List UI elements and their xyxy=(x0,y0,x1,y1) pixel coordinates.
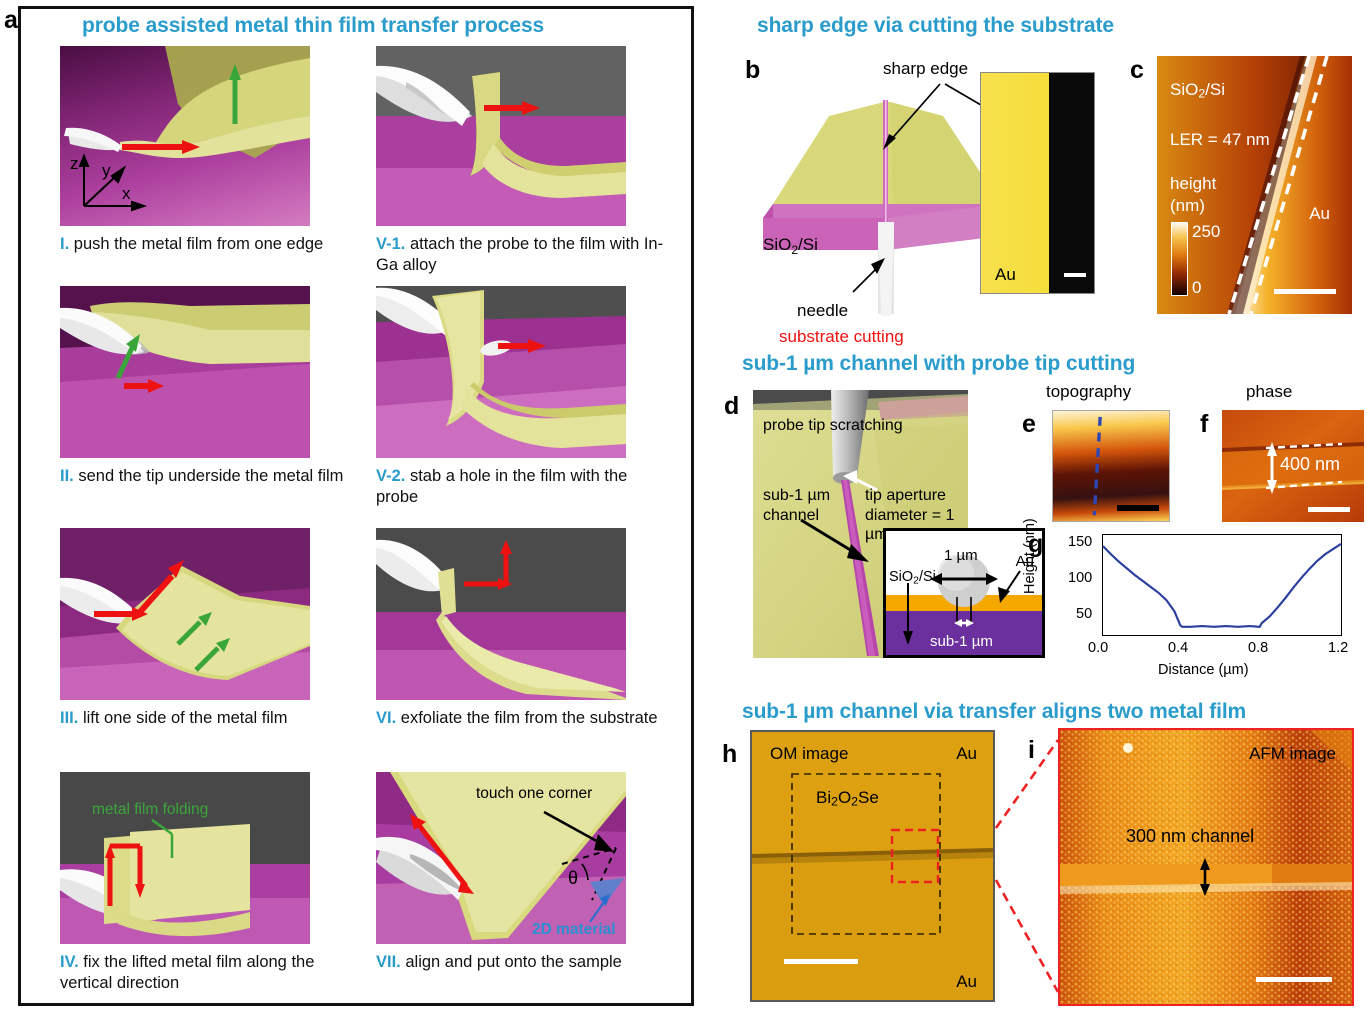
step-image-VI xyxy=(376,528,626,700)
heading-sub1um-probe: sub-1 µm channel with probe tip cutting xyxy=(742,352,1135,376)
panel-letter-e: e xyxy=(1022,412,1036,437)
label-h-material: Bi2O2Se xyxy=(816,788,879,809)
label-needle: needle xyxy=(797,301,848,320)
panel-h-om-image: OM image Au Bi2O2Se Au xyxy=(750,730,995,1002)
step-image-III xyxy=(60,528,310,700)
step-caption-III: III. lift one side of the metal film xyxy=(60,708,350,729)
label-inset-sub1um: sub-1 µm xyxy=(930,633,993,650)
annotation-touch-one-corner: touch one corner xyxy=(476,785,592,802)
step-image-II xyxy=(60,286,310,458)
step-caption-V2: V-2. stab a hole in the film with the pr… xyxy=(376,466,666,508)
label-c-au: Au xyxy=(1309,204,1330,224)
step-caption-IV: IV. fix the lifted metal film along the … xyxy=(60,952,350,994)
chart-y-axis-label: Height (nm) xyxy=(1044,536,1058,648)
step-text-III: lift one side of the metal film xyxy=(83,709,288,727)
annotation-2d-material: 2D material xyxy=(532,921,616,938)
panel-c-afm-image: SiO2/Si LER = 47 nm height (nm) 250 0 Au xyxy=(1157,56,1352,314)
step-image-IV: metal film folding xyxy=(60,772,310,944)
panel-letter-f: f xyxy=(1200,412,1208,437)
heading-process: probe assisted metal thin film transfer … xyxy=(82,14,544,38)
step-text-V2: stab a hole in the film with the probe xyxy=(376,467,627,506)
panel-letter-c: c xyxy=(1130,58,1144,83)
panel-i-afm-image: AFM image 300 nm channel xyxy=(1058,728,1354,1006)
panel-d-inset: SiO2/Si 1 µm Au sub-1 µm xyxy=(883,528,1045,658)
label-inset-1um: 1 µm xyxy=(944,547,978,564)
colorbar-max-label: 250 xyxy=(1192,222,1220,242)
scalebar-panel-i xyxy=(1256,977,1332,982)
title-topography: topography xyxy=(1046,382,1131,402)
step-text-IV: fix the lifted metal film along the vert… xyxy=(60,953,314,992)
label-b-substrate: SiO2/Si xyxy=(763,235,818,257)
scalebar-panel-c xyxy=(1274,289,1336,294)
svg-text:y: y xyxy=(102,161,111,180)
step-text-V1: attach the probe to the film with In-Ga … xyxy=(376,235,663,274)
chart-ytick-100: 100 xyxy=(1068,570,1092,586)
step-text-VI: exfoliate the film from the substrate xyxy=(401,709,658,727)
step-number-I: I. xyxy=(60,235,69,253)
chart-xtick-08: 0.8 xyxy=(1248,640,1268,656)
chart-x-axis-label: Distance (µm) xyxy=(1158,662,1249,678)
panel-b-micrograph: Au xyxy=(980,72,1095,294)
step-caption-V1: V-1. attach the probe to the film with I… xyxy=(376,234,666,276)
label-d-probe-scratching: probe tip scratching xyxy=(763,416,903,436)
scalebar-panel-b xyxy=(1064,273,1086,277)
label-b-au: Au xyxy=(995,265,1016,285)
panel-letter-h: h xyxy=(722,742,737,767)
chart-ytick-50: 50 xyxy=(1076,606,1092,622)
label-c-height-unit: (nm) xyxy=(1170,196,1205,216)
panel-letter-d: d xyxy=(724,394,739,419)
title-phase: phase xyxy=(1246,382,1292,402)
step-number-IV: IV. xyxy=(60,953,79,971)
chart-xtick-04: 0.4 xyxy=(1168,640,1188,656)
label-i-afm-image: AFM image xyxy=(1249,744,1336,764)
step-text-VII: align and put onto the sample xyxy=(405,953,622,971)
step-number-VII: VII. xyxy=(376,953,401,971)
step-caption-II: II. send the tip underside the metal fil… xyxy=(60,466,350,487)
label-inset-substrate: SiO2/Si xyxy=(889,569,936,586)
scalebar-panel-f xyxy=(1308,507,1350,512)
step-text-I: push the metal film from one edge xyxy=(74,235,323,253)
panel-e-topography-image xyxy=(1052,410,1170,522)
label-c-ler: LER = 47 nm xyxy=(1170,130,1270,150)
step-caption-VII: VII. align and put onto the sample xyxy=(376,952,666,973)
step-number-VI: VI. xyxy=(376,709,396,727)
panel-letter-a: a xyxy=(4,8,18,33)
figure-root: a probe assisted metal thin film transfe… xyxy=(0,0,1367,1016)
label-c-height: height xyxy=(1170,174,1216,194)
step-image-I: z y x xyxy=(60,46,310,226)
heading-sharp-edge: sharp edge via cutting the substrate xyxy=(757,14,1114,38)
label-sharp-edge: sharp edge xyxy=(883,59,968,78)
panel-g-chart: Height (nm) 150 100 50 0.0 0.4 0.8 1.2 D… xyxy=(1050,530,1350,660)
scalebar-panel-h xyxy=(784,959,858,964)
label-substrate-cutting: substrate cutting xyxy=(779,327,904,346)
panel-f-phase-image: 400 nm xyxy=(1222,410,1364,522)
label-d-sub1um-channel: sub-1 µm channel xyxy=(763,486,855,525)
step-number-II: II. xyxy=(60,467,74,485)
step-caption-VI: VI. exfoliate the film from the substrat… xyxy=(376,708,666,729)
step-image-V1 xyxy=(376,46,626,226)
step-number-V1: V-1. xyxy=(376,235,405,253)
annotation-metal-film-folding: metal film folding xyxy=(92,801,208,818)
svg-text:z: z xyxy=(70,154,79,173)
label-c-substrate: SiO2/Si xyxy=(1170,80,1225,101)
step-text-II: send the tip underside the metal film xyxy=(78,467,343,485)
chart-xtick-0: 0.0 xyxy=(1088,640,1108,656)
colorbar-min-label: 0 xyxy=(1192,278,1201,298)
step-image-V2 xyxy=(376,286,626,458)
chart-ytick-150: 150 xyxy=(1068,534,1092,550)
chart-plot-area xyxy=(1102,534,1342,636)
panel-letter-i: i xyxy=(1028,738,1035,763)
chart-xtick-12: 1.2 xyxy=(1328,640,1348,656)
svg-text:x: x xyxy=(122,184,131,203)
annotation-theta: θ xyxy=(568,868,578,888)
label-i-channel: 300 nm channel xyxy=(1126,826,1254,847)
zoom-connector-lines xyxy=(960,720,1070,1010)
label-h-om-image: OM image xyxy=(770,744,848,764)
step-caption-I: I. push the metal film from one edge xyxy=(60,234,350,255)
step-number-III: III. xyxy=(60,709,78,727)
step-image-VII: θ touch one corner 2D material xyxy=(376,772,626,944)
step-number-V2: V-2. xyxy=(376,467,405,485)
scalebar-panel-e xyxy=(1117,505,1159,511)
colorbar-panel-c xyxy=(1171,222,1188,296)
label-f-measurement: 400 nm xyxy=(1280,454,1340,475)
